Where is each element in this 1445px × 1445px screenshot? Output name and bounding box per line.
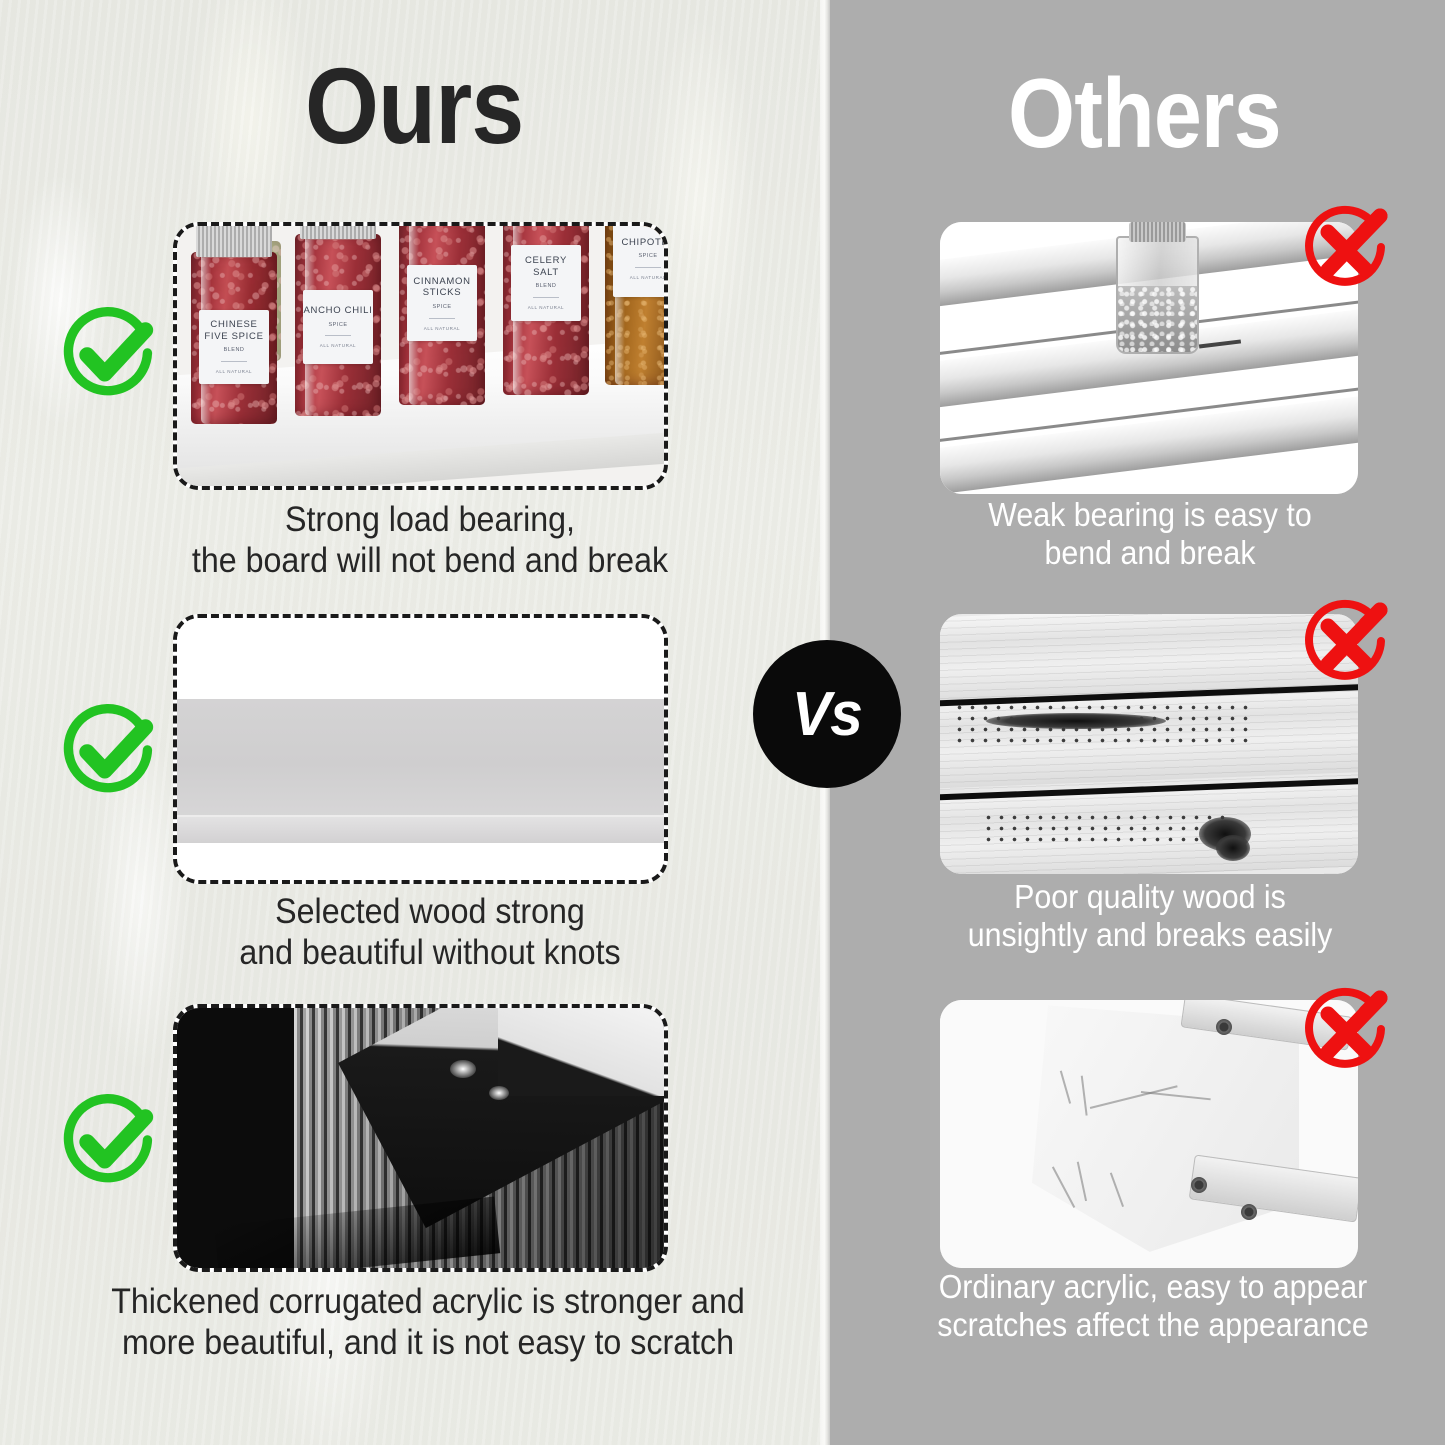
acrylic-pane: [1032, 1005, 1300, 1252]
acrylic-top-surface: [498, 1008, 664, 1096]
wood-knot: [986, 713, 1166, 729]
spice-jar: CELERY SALT BLEND ALL NATURAL: [503, 222, 589, 395]
jar-label: CHINESE FIVE SPICE BLEND ALL NATURAL: [199, 310, 270, 384]
jar-label-note: ALL NATURAL: [216, 369, 252, 374]
jar-label-name: CINNAMON STICKS: [407, 276, 478, 299]
jar-label-name: CHIPOTLE: [621, 237, 668, 249]
acrylic-specular-highlight: [450, 1060, 476, 1078]
jar-label: CELERY SALT BLEND ALL NATURAL: [511, 245, 582, 321]
jar-contents: [1118, 286, 1197, 352]
green-check-circle-icon: [58, 303, 162, 412]
red-cross-circle-icon: [1296, 982, 1396, 1087]
jar-label-sub: SPICE: [432, 304, 451, 311]
green-check-circle-icon: [58, 1090, 162, 1199]
ours-row1-image-frame: CHINESE FIVE SPICE BLEND ALL NATURAL ANC…: [173, 222, 668, 490]
red-cross-circle-icon: [1296, 594, 1396, 699]
jar-label-sub: SPICE: [638, 253, 657, 260]
corrugated-acrylic-photo: [177, 1008, 664, 1268]
ours-row3-image-frame: [173, 1004, 668, 1272]
wood-slab-lower: [177, 817, 664, 843]
ours-row3-caption: Thickened corrugated acrylic is stronger…: [88, 1282, 769, 1363]
jar-label-name: CHINESE FIVE SPICE: [199, 319, 270, 342]
others-row2-caption: Poor quality wood is unsightly and break…: [948, 878, 1353, 955]
spice-jar: ANCHO CHILI SPICE ALL NATURAL: [295, 234, 381, 416]
jar-label: CHIPOTLE SPICE ALL NATURAL: [613, 222, 668, 297]
jar-label-name: ANCHO CHILI: [304, 305, 373, 317]
jar-label-note: ALL NATURAL: [630, 275, 666, 280]
jar-label-rule: [221, 361, 247, 362]
jar-label-rule: [325, 335, 351, 336]
mounting-screw: [1191, 1177, 1207, 1193]
shelf-plank: [940, 389, 1358, 494]
page-title-ours: Ours: [305, 52, 523, 160]
spice-jar: CHIPOTLE SPICE ALL NATURAL: [605, 222, 668, 385]
green-check-circle-icon: [58, 700, 162, 809]
ours-row1-caption: Strong load bearing, the board will not …: [145, 500, 715, 581]
jar-label-rule: [533, 297, 559, 298]
page-title-others: Others: [1008, 64, 1281, 162]
jar-label-sub: BLEND: [224, 347, 245, 354]
mounting-screw: [1241, 1204, 1257, 1220]
jar-label: ANCHO CHILI SPICE ALL NATURAL: [303, 290, 374, 364]
glass-jar: [1116, 236, 1199, 354]
ours-row2-caption: Selected wood strong and beautiful witho…: [145, 892, 715, 973]
jar-label-note: ALL NATURAL: [528, 305, 564, 310]
jar-label-name: CELERY SALT: [511, 255, 582, 278]
spice-jar: CHINESE FIVE SPICE BLEND ALL NATURAL: [191, 252, 277, 424]
wood-slab: [177, 699, 664, 817]
jar-label-sub: BLEND: [536, 283, 557, 290]
jar-label-note: ALL NATURAL: [320, 343, 356, 348]
mounting-screw: [1216, 1019, 1232, 1035]
jar-label-note: ALL NATURAL: [424, 326, 460, 331]
jar-label-rule: [429, 318, 455, 319]
jar-neck: [410, 222, 474, 223]
jar-lid: [196, 222, 272, 257]
spice-jar: CINNAMON STICKS SPICE ALL NATURAL: [399, 222, 485, 405]
vs-badge: Vs: [753, 640, 901, 788]
red-cross-circle-icon: [1296, 200, 1396, 305]
comparison-infographic: Ours Others CHINESE FIVE SPICE BLEND ALL…: [0, 0, 1445, 1445]
ours-row2-image-frame: [173, 614, 668, 884]
jar-lid: [1129, 222, 1186, 242]
others-row1-caption: Weak bearing is easy to bend and break: [948, 496, 1353, 573]
spice-jars-photo: CHINESE FIVE SPICE BLEND ALL NATURAL ANC…: [177, 226, 664, 486]
jar-label-sub: SPICE: [328, 322, 347, 329]
others-row3-caption: Ordinary acrylic, easy to appear scratch…: [909, 1268, 1397, 1345]
acrylic-specular-highlight: [489, 1086, 509, 1100]
jar-label: CINNAMON STICKS SPICE ALL NATURAL: [407, 265, 478, 341]
vs-badge-label: Vs: [792, 679, 862, 750]
jar-label-rule: [635, 267, 661, 268]
wood-knot: [1216, 835, 1250, 861]
jar-lid: [300, 222, 376, 239]
clean-board-photo: [177, 618, 664, 880]
wood-pinholes: [982, 812, 1233, 843]
